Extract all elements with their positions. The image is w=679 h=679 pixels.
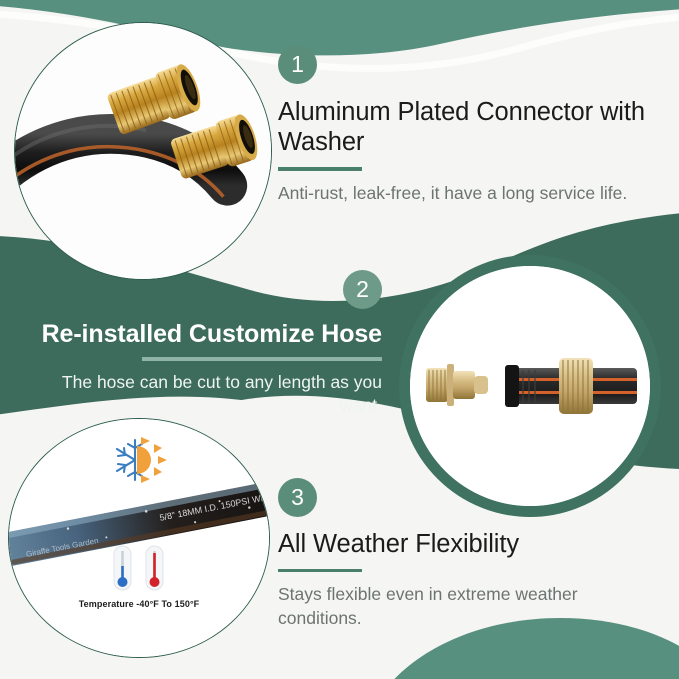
temperature-caption: Temperature -40°F To 150°F (9, 599, 269, 609)
feature-2-divider (142, 357, 382, 361)
thermometer-icons (108, 544, 170, 592)
feature-2-text-block: 2 Re-installed Customize Hose The hose c… (30, 270, 382, 418)
feature-1-subtitle: Anti-rust, leak-free, it have a long ser… (278, 182, 650, 206)
feature-2-title: Re-installed Customize Hose (30, 320, 382, 349)
feature-3-title: All Weather Flexibility (278, 530, 650, 560)
feature-3-photo: 5/8" 18MM I.D. 150PSI WP Giraffe Tools G… (8, 418, 270, 658)
feature-1-divider (278, 167, 362, 171)
feature-3-divider (278, 569, 362, 573)
feature-1-photo (14, 22, 272, 280)
feature-2-subtitle: The hose can be cut to any length as you… (30, 371, 382, 418)
feature-1-number-badge: 1 (278, 45, 317, 84)
feature-1-title: Aluminum Plated Connector with Washer (278, 98, 650, 157)
feature-3-subtitle: Stays flexible even in extreme weather c… (278, 583, 650, 630)
infographic-canvas: 5/8" 18MM I.D. 150PSI WP Giraffe Tools G… (0, 0, 679, 679)
hose-fitting-image (410, 266, 650, 506)
feature-2-number-badge: 2 (343, 270, 382, 309)
feature-3-text-block: 3 All Weather Flexibility Stays flexible… (278, 478, 650, 630)
feature-1-text-block: 1 Aluminum Plated Connector with Washer … (278, 45, 650, 205)
hot-thermometer-icon (146, 546, 163, 590)
brass-connectors-image (15, 23, 271, 279)
snowflake-sun-icon (108, 435, 170, 485)
cold-thermometer-icon (114, 546, 131, 590)
feature-3-number-badge: 3 (278, 478, 317, 517)
